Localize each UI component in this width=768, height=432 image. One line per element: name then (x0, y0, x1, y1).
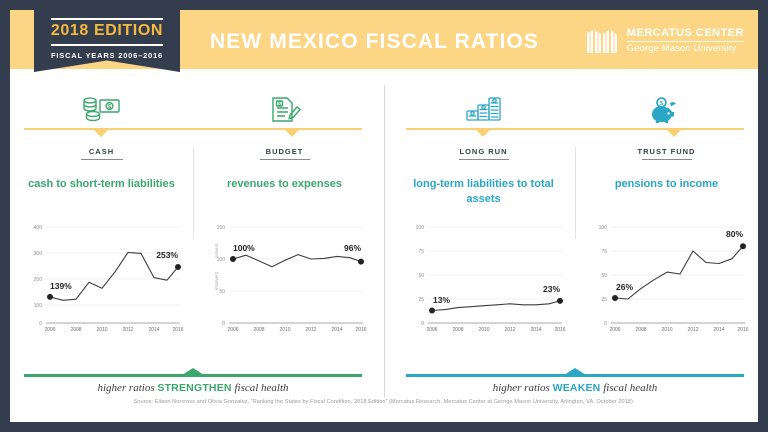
svg-text:75: 75 (601, 249, 607, 255)
icon-row-right: $ (392, 89, 758, 127)
svg-text:150: 150 (217, 225, 226, 231)
notch-cash (94, 130, 108, 137)
svg-text:2014: 2014 (530, 327, 541, 333)
end-dot-trust-fund (740, 243, 746, 249)
svg-text:0: 0 (421, 321, 424, 327)
svg-text:0: 0 (604, 321, 607, 327)
footer-suffix-weaken: fiscal health (600, 382, 657, 394)
edition-badge: 2018 EDITION FISCAL YEARS 2006–2016 (34, 0, 180, 72)
panel-ratio-cash: cash to short-term liabilities (10, 160, 193, 192)
svg-text:50: 50 (219, 289, 225, 295)
svg-text:2008: 2008 (635, 327, 646, 333)
logo-name: MERCATUS CENTER (627, 27, 744, 39)
svg-text:2016: 2016 (355, 327, 366, 333)
notch-long-run (476, 130, 490, 137)
svg-text:2014: 2014 (331, 327, 342, 333)
icon-row-left: $ $ (10, 89, 376, 127)
end-dot-long-run (557, 298, 563, 304)
yticks-trust-fund: 100 75 50 25 0 (599, 225, 608, 327)
start-dot-cash (47, 294, 53, 300)
svg-text:2010: 2010 (96, 327, 107, 333)
axis-label-insolvent: insolvent (214, 271, 219, 290)
page-title: NEW MEXICO FISCAL RATIOS (210, 30, 539, 54)
money-stacks-icon (464, 95, 504, 125)
footbar-strengthen (24, 374, 362, 377)
svg-text:$: $ (278, 101, 281, 107)
chart-long-run: 100 75 50 25 0 2006 2008 2010 2012 2014 (402, 215, 568, 337)
panel-budget: BUDGET revenues to expenses 150 100 (193, 141, 376, 399)
badge-years-label: FISCAL YEARS 2006–2016 (34, 46, 180, 60)
svg-text:2006: 2006 (44, 327, 55, 333)
divider-rule-right (406, 128, 744, 130)
svg-text:25: 25 (601, 297, 607, 303)
start-value-cash: 139% (50, 281, 72, 291)
panel-category-budget: BUDGET (193, 141, 376, 156)
panel-category-long-run: LONG RUN (392, 141, 575, 156)
yticks-cash: 400 300 200 100 0 (34, 225, 43, 327)
svg-text:200: 200 (34, 277, 43, 283)
start-dot-long-run (429, 308, 435, 314)
logo-divider (627, 41, 744, 42)
svg-text:100: 100 (599, 225, 608, 231)
icon-slot-trust-fund: $ (575, 89, 758, 125)
end-dot-budget (358, 259, 364, 265)
icon-slot-cash: $ (10, 89, 193, 125)
footer-note-strengthen: higher ratios STRENGTHEN fiscal health (10, 382, 376, 394)
svg-text:2008: 2008 (70, 327, 81, 333)
svg-text:2012: 2012 (122, 327, 133, 333)
footer-note-weaken: higher ratios WEAKEN fiscal health (392, 382, 758, 394)
icon-slot-long-run (392, 89, 575, 125)
header-band: NEW MEXICO FISCAL RATIOS 2018 EDITION FI… (10, 10, 758, 69)
footer-prefix-strengthen: higher ratios (97, 382, 157, 394)
svg-text:2006: 2006 (426, 327, 437, 333)
xticks-budget: 2006 2008 2010 2012 2014 2016 (227, 327, 366, 333)
panel-category-cash: CASH (10, 141, 193, 156)
cash-coins-icon: $ (82, 95, 122, 125)
notch-budget (285, 130, 299, 137)
svg-text:2014: 2014 (148, 327, 159, 333)
svg-text:2016: 2016 (172, 327, 183, 333)
panel-ratio-long-run: long-term liabilities to total assets (392, 160, 575, 207)
mercatus-logo: MERCATUS CENTER George Mason University (586, 27, 744, 54)
icon-slot-budget: $ (193, 89, 376, 125)
footer-suffix-strengthen: fiscal health (232, 382, 289, 394)
svg-text:2006: 2006 (227, 327, 238, 333)
svg-text:75: 75 (418, 249, 424, 255)
end-value-trust-fund: 80% (726, 229, 743, 239)
mercatus-logo-icon (586, 28, 620, 54)
svg-text:300: 300 (34, 251, 43, 257)
divider-rule-left (24, 128, 362, 130)
svg-text:0: 0 (222, 321, 225, 327)
chart-trust-fund: 100 75 50 25 0 2006 2008 2010 2012 2014 (585, 215, 751, 337)
xticks-long-run: 2006 2008 2010 2012 2014 2016 (426, 327, 565, 333)
start-dot-trust-fund (612, 295, 618, 301)
half-weaken: $ LONG RUN long-term liabilities to tota… (392, 69, 758, 422)
start-dot-budget (230, 256, 236, 262)
piggy-bank-icon: $ (650, 95, 684, 125)
svg-text:2012: 2012 (504, 327, 515, 333)
gridlines-long-run (428, 227, 562, 299)
half-strengthen: $ $ (10, 69, 376, 422)
chart-cash: 400 300 200 100 0 2006 2008 2010 2012 20… (20, 215, 186, 337)
panels-area: $ $ (10, 69, 758, 422)
start-value-trust-fund: 26% (616, 282, 633, 292)
infographic-frame: NEW MEXICO FISCAL RATIOS 2018 EDITION FI… (10, 10, 758, 422)
start-value-budget: 100% (233, 243, 255, 253)
logo-text-block: MERCATUS CENTER George Mason University (627, 27, 744, 54)
svg-text:400: 400 (34, 225, 43, 231)
badge-edition-label: 2018 EDITION (34, 20, 180, 43)
end-value-budget: 96% (344, 243, 361, 253)
gridlines-budget (229, 227, 363, 291)
svg-text:2006: 2006 (609, 327, 620, 333)
series-line-trust-fund (615, 246, 743, 299)
series-line-budget (233, 255, 361, 267)
svg-text:50: 50 (601, 273, 607, 279)
svg-text:50: 50 (418, 273, 424, 279)
svg-text:2010: 2010 (478, 327, 489, 333)
footer-emphasis-weaken: WEAKEN (553, 382, 601, 394)
panel-category-trust-fund: TRUST FUND (575, 141, 758, 156)
svg-text:2008: 2008 (253, 327, 264, 333)
yticks-long-run: 100 75 50 25 0 (416, 225, 425, 327)
center-divider (384, 85, 385, 397)
logo-subtitle: George Mason University (627, 43, 744, 54)
xticks-cash: 2006 2008 2010 2012 2014 2016 (44, 327, 183, 333)
footer-emphasis-strengthen: STRENGTHEN (157, 382, 231, 394)
panel-ratio-trust-fund: pensions to income (575, 160, 758, 192)
series-line-long-run (432, 301, 560, 311)
svg-text:0: 0 (39, 321, 42, 327)
gridlines-cash (46, 227, 180, 305)
panel-trust-fund: TRUST FUND pensions to income 100 (575, 141, 758, 399)
svg-text:100: 100 (34, 303, 43, 309)
start-value-long-run: 13% (433, 295, 450, 305)
svg-text:2016: 2016 (737, 327, 748, 333)
svg-text:2012: 2012 (687, 327, 698, 333)
svg-text:2014: 2014 (713, 327, 724, 333)
svg-text:$: $ (659, 101, 662, 107)
svg-text:2010: 2010 (279, 327, 290, 333)
svg-text:25: 25 (418, 297, 424, 303)
panel-cash: CASH cash to short-term liabilities 4 (10, 141, 193, 399)
end-dot-cash (175, 264, 181, 270)
svg-text:2016: 2016 (554, 327, 565, 333)
end-value-cash: 253% (156, 250, 178, 260)
svg-text:100: 100 (416, 225, 425, 231)
panel-long-run: LONG RUN long-term liabilities to total … (392, 141, 575, 399)
panel-ratio-budget: revenues to expenses (193, 160, 376, 192)
footer-prefix-weaken: higher ratios (493, 382, 553, 394)
xticks-trust-fund: 2006 2008 2010 2012 2014 2016 (609, 327, 748, 333)
chart-budget: 150 100 50 0 solvent insolvent 2006 2008… (203, 215, 369, 337)
document-pencil-icon: $ (268, 95, 302, 125)
end-value-long-run: 23% (543, 284, 560, 294)
notch-trust-fund (667, 130, 681, 137)
svg-text:2008: 2008 (452, 327, 463, 333)
svg-text:2010: 2010 (661, 327, 672, 333)
source-citation: Source: Eileen Norcross and Olivia Gonza… (10, 399, 758, 405)
footbar-weaken (406, 374, 744, 377)
svg-text:2012: 2012 (305, 327, 316, 333)
axis-label-solvent: solvent (214, 243, 219, 258)
